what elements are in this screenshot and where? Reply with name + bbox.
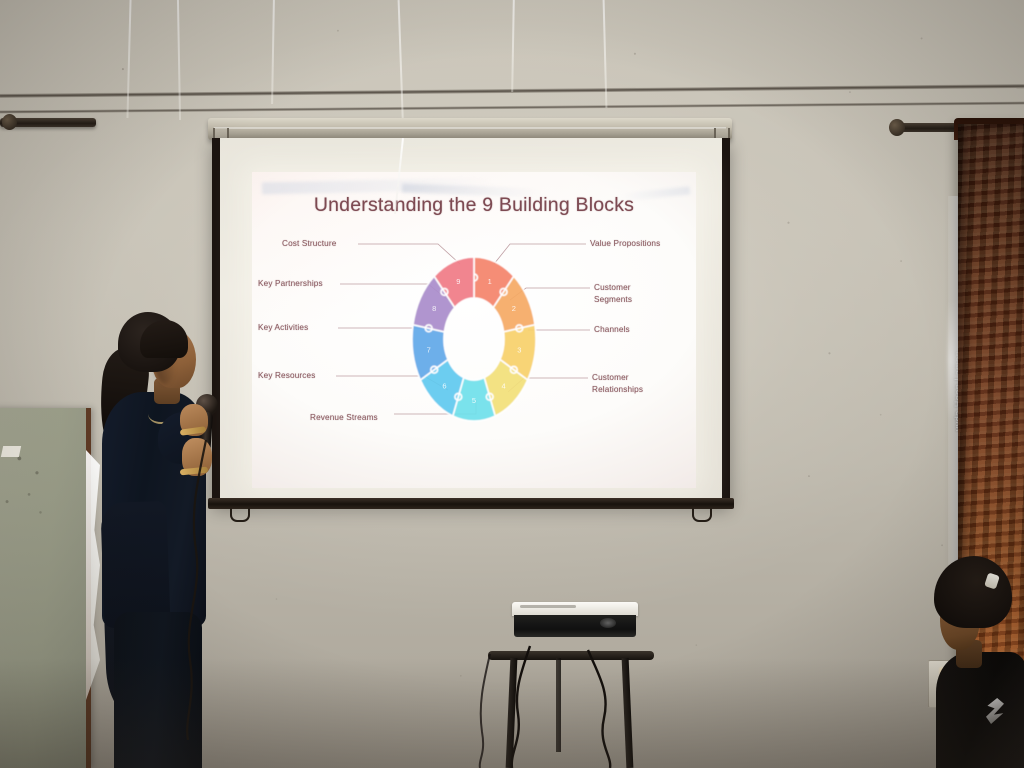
projector-lens xyxy=(600,618,616,628)
panel-scuff-marks xyxy=(0,408,88,768)
curtain-rod-finial-right xyxy=(889,119,905,136)
projector-cables xyxy=(470,640,670,768)
label-customer-segments-line2: Segments xyxy=(594,294,674,306)
panel-label-patch xyxy=(1,446,21,457)
projection-screen-case xyxy=(208,118,732,140)
presentation-photo-scene: vyda Hoon Laman Understanding the 9 Buil… xyxy=(0,0,1024,768)
label-value-propositions: Value Propositions xyxy=(590,238,694,250)
screen-weight-bar xyxy=(208,498,734,509)
label-key-resources: Key Resources xyxy=(258,370,348,382)
label-customer-relationships-line2: Relationships xyxy=(592,384,684,396)
label-cost-structure: Cost Structure xyxy=(282,238,368,250)
curtain-rod-finial-left xyxy=(2,114,17,130)
second-person-hair xyxy=(934,556,1012,628)
projector-body xyxy=(514,615,636,637)
label-key-partnerships: Key Partnerships xyxy=(258,278,352,290)
slide-labels: Cost Structure Key Partnerships Key Acti… xyxy=(252,172,696,488)
label-customer-relationships: Customer Relationships xyxy=(592,372,684,396)
screen-bar-hook-right xyxy=(692,508,712,522)
label-customer-segments: Customer Segments xyxy=(594,282,674,306)
label-revenue-streams: Revenue Streams xyxy=(310,412,406,424)
label-customer-relationships-line1: Customer xyxy=(592,372,684,384)
projected-slide: Understanding the 9 Building Blocks 1234… xyxy=(252,172,696,488)
presenter-hair-front xyxy=(140,320,188,358)
label-customer-segments-line1: Customer xyxy=(594,282,674,294)
screen-bar-hook-left xyxy=(230,508,250,522)
second-person-torso xyxy=(936,652,1024,768)
second-person xyxy=(930,556,1024,768)
microphone-cable xyxy=(80,440,210,740)
label-channels: Channels xyxy=(594,324,674,336)
label-key-activities: Key Activities xyxy=(258,322,348,334)
projector-vent xyxy=(520,605,576,608)
